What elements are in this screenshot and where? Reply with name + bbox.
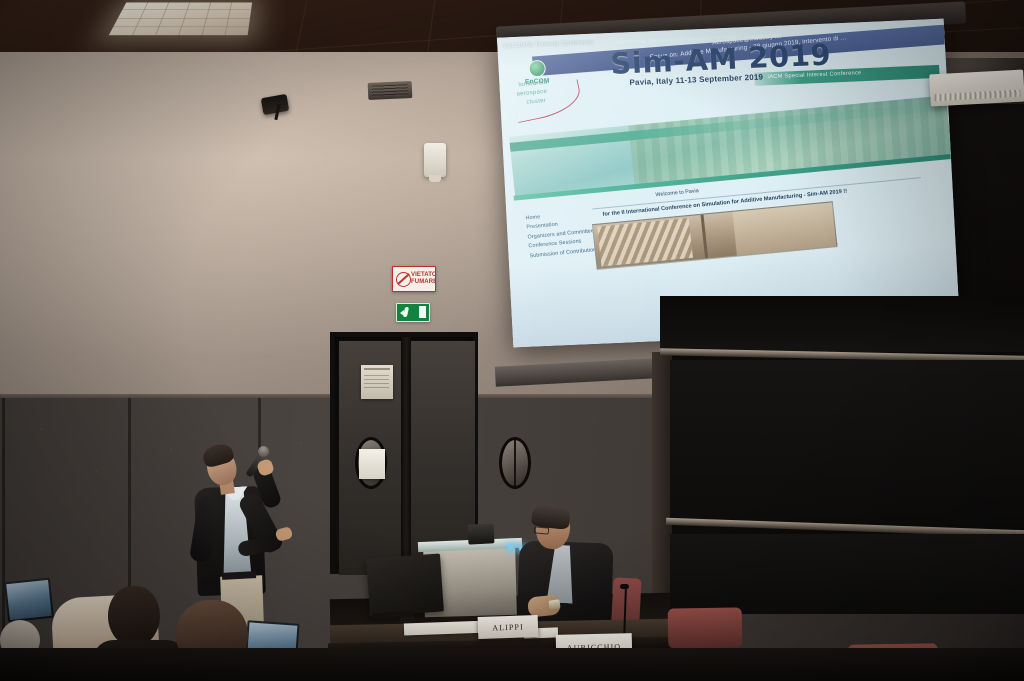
blackboard-panel	[670, 360, 1024, 524]
no-smoking-icon	[396, 272, 411, 287]
wall-vent	[368, 81, 413, 100]
audience-1-head	[108, 586, 160, 646]
podium-monitor	[467, 523, 494, 544]
no-smoking-label: VIETATO FUMARE	[411, 272, 436, 286]
laptop-icon[interactable]	[4, 578, 54, 623]
blackboard-upper	[660, 296, 1024, 354]
encom-badge-icon	[528, 60, 546, 78]
status-led-1	[508, 545, 513, 549]
encom-logo: EnCOM	[516, 59, 557, 86]
door-window-right	[499, 437, 531, 489]
floor-band	[0, 648, 1024, 681]
chair-red-1	[668, 607, 743, 648]
exit-door-icon	[419, 306, 426, 318]
door-leaf-left[interactable]	[339, 341, 401, 575]
door-mullion	[401, 337, 411, 579]
photo-column	[701, 215, 709, 259]
laptop-screen	[6, 580, 52, 620]
emergency-exit-sign	[396, 303, 430, 322]
desk-monitor	[366, 553, 444, 616]
exit-running-man-icon	[403, 307, 409, 317]
lecture-hall-photo: VIETATO FUMARE Aerospace@industry4.0 Foc…	[0, 0, 1024, 681]
blackboard-side-frame	[652, 352, 672, 614]
door-icon[interactable]	[330, 332, 478, 574]
blackboard-panel-lower	[670, 534, 1024, 614]
eccomas-label: ECCOMAS Thematic Conference	[503, 40, 593, 50]
ceiling-light-icon	[109, 2, 252, 35]
photo-wall	[732, 202, 836, 255]
panelist-glasses	[534, 526, 550, 534]
name-placard-alippi: ALIPPI	[478, 615, 539, 639]
no-smoking-sign: VIETATO FUMARE	[392, 266, 436, 292]
table-microphone-head	[620, 584, 629, 589]
door-notice-paper	[361, 365, 393, 399]
welcome-heading: Welcome to Pavia	[655, 188, 699, 198]
panelist-wristwatch	[548, 599, 560, 609]
site-nav-list[interactable]: Home Presentation Organizers and Committ…	[525, 208, 599, 262]
sanitizer-dispenser-icon[interactable]	[424, 143, 446, 177]
blackboard-icon	[652, 352, 1024, 614]
ac-unit-icon	[929, 70, 1024, 107]
door-taped-paper	[359, 449, 385, 479]
